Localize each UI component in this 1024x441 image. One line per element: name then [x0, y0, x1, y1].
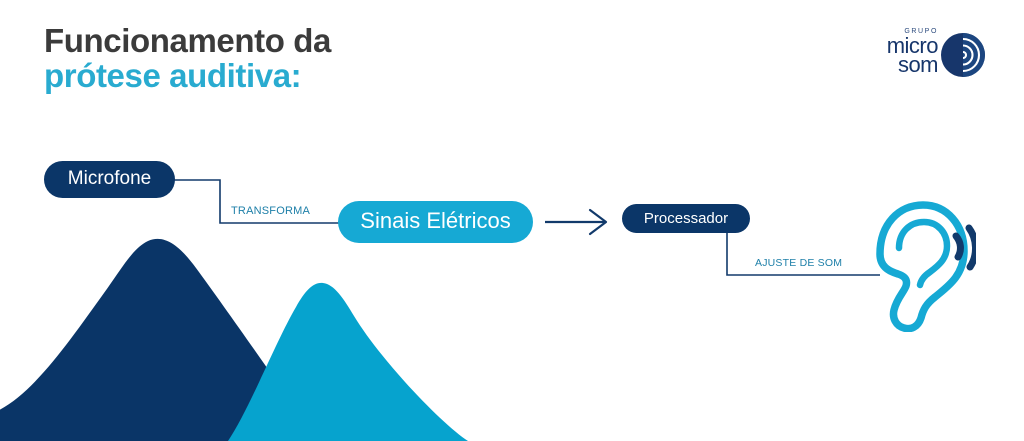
flow-node-sinais-eletricos-label: Sinais Elétricos — [360, 208, 510, 234]
flow-node-microfone[interactable]: Microfone — [44, 161, 175, 198]
flow-node-processador-label: Processador — [644, 210, 728, 227]
page-title: Funcionamento da prótese auditiva: — [44, 24, 331, 94]
navy-mountain-shape — [0, 239, 318, 441]
brand-logo-text: GRUPO micro som — [866, 28, 938, 75]
brand-logo: GRUPO micro som — [866, 28, 988, 84]
ear-listening-icon — [868, 198, 976, 332]
connector-label-transforma: TRANSFORMA — [231, 205, 310, 217]
flow-node-microfone-label: Microfone — [68, 168, 151, 190]
infographic-canvas: Funcionamento da prótese auditiva: GRUPO… — [0, 0, 1024, 441]
connector-label-ajuste-de-som: AJUSTE DE SOM — [755, 257, 842, 269]
title-line-1: Funcionamento da — [44, 24, 331, 59]
flow-node-processador[interactable]: Processador — [622, 204, 750, 233]
brand-logo-som: som — [866, 55, 938, 74]
flow-node-sinais-eletricos[interactable]: Sinais Elétricos — [338, 201, 533, 243]
cyan-mountain-shape — [228, 283, 468, 441]
sound-wave-circle-icon — [940, 32, 986, 78]
right-arrow-icon — [545, 210, 606, 234]
title-line-2: prótese auditiva: — [44, 59, 331, 94]
